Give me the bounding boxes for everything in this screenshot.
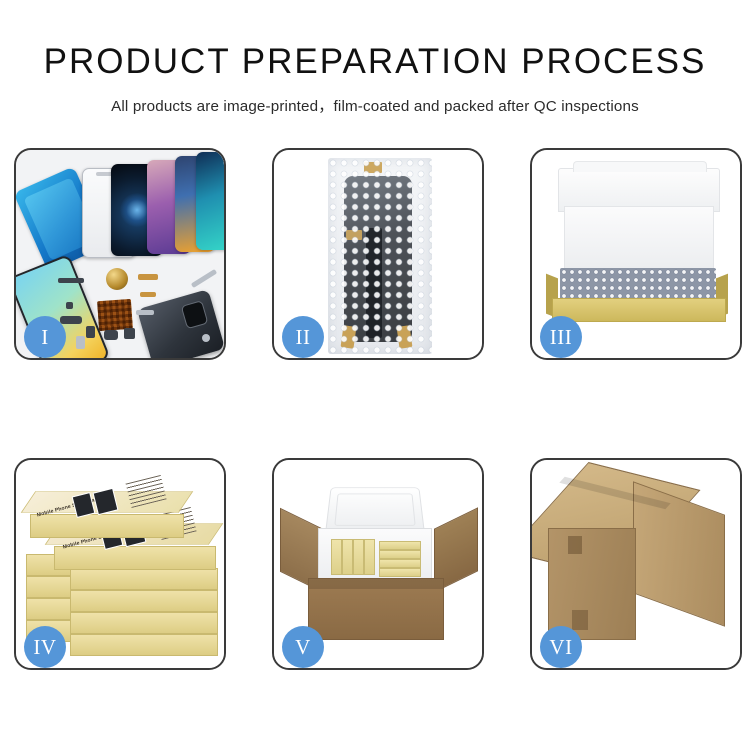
button-part [86,326,95,338]
inner-box-v3 [353,539,364,575]
inner-box-h2 [379,550,421,559]
inner-box-v4 [364,539,375,575]
inner-box-h1 [379,541,421,550]
bubble-texture [328,158,432,354]
step-badge-5: V [282,626,324,668]
process-step-card-6[interactable]: VI [530,458,742,670]
flex-cable-b [140,292,156,297]
phone-back-cover [137,289,224,358]
screw-grid-tray [97,299,133,331]
carton-tape-upper [568,536,582,554]
printed-box-2-side [54,546,216,570]
small-part-strip [58,278,84,283]
process-step-card-5[interactable]: V [272,458,484,670]
foam-lid [325,487,425,533]
sensor-part [124,328,135,339]
carton-tape-lower [572,610,588,630]
process-step-card-2[interactable]: II [272,148,484,360]
page-header: PRODUCT PREPARATION PROCESS All products… [0,0,750,116]
bubble-wrap-bag [328,158,432,354]
stacked-box-front-1 [70,634,218,656]
stacked-box-front-2 [70,612,218,634]
teal-phone [196,152,224,250]
speaker-part [104,330,118,340]
step-badge-4: IV [24,626,66,668]
foam-sheet [564,206,714,270]
foam-liner [318,528,432,584]
stacked-box-front-4 [70,568,218,590]
small-part-chip [66,302,73,309]
screw-part [202,334,210,342]
carton-body [308,578,444,640]
page-title: PRODUCT PREPARATION PROCESS [0,0,750,79]
step-badge-2: II [282,316,324,358]
process-step-card-4[interactable]: Mobile Phone Spare Parts Mobile Phone Sp… [14,458,226,670]
inner-box-v2 [342,539,353,575]
process-step-card-3[interactable]: III [530,148,742,360]
step-badge-6: VI [540,626,582,668]
process-step-card-1[interactable]: I [14,148,226,360]
page-subtitle: All products are image-printed，film-coat… [0,79,750,116]
bubble-wrap-filling [560,268,716,300]
tray-front-wall [552,298,726,322]
inner-box-h4 [379,568,421,577]
flex-cable-a [138,274,158,280]
inner-box-h3 [379,559,421,568]
carton-front-face [548,528,636,640]
sim-tray [76,336,85,349]
step-badge-3: III [540,316,582,358]
metal-bracket [136,310,154,315]
step-badge-1: I [24,316,66,358]
gold-coil-part [106,268,128,290]
tweezers-tool [191,269,217,288]
camera-module [60,316,82,324]
stacked-box-front-3 [70,590,218,612]
printed-box-1-side [30,514,184,538]
inner-box-v1 [331,539,342,575]
